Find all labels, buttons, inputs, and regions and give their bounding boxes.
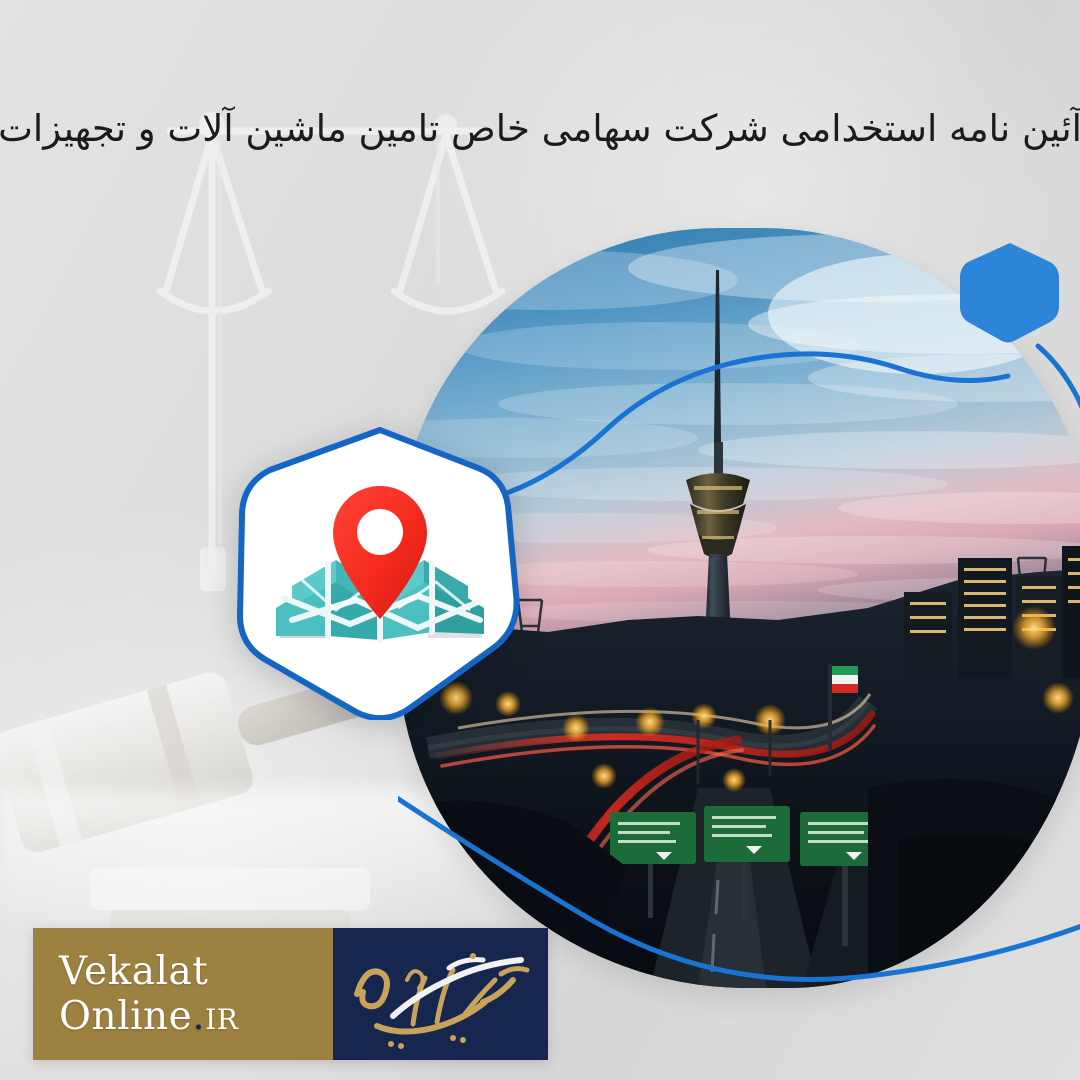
site-logo[interactable]: Vekalat Online.IR — [33, 928, 548, 1060]
map-location-badge[interactable] — [232, 424, 528, 720]
logo-calligraphy-mark — [333, 928, 548, 1060]
banner-canvas: آئین نامه استخدامی شرکت سهامی خاص تامین … — [0, 0, 1080, 1080]
logo-line-2: Online.IR — [59, 994, 333, 1039]
logo-dot: . — [192, 994, 205, 1039]
blue-hexagon-accent — [958, 240, 1062, 344]
page-title: آئین نامه استخدامی شرکت سهامی خاص تامین … — [0, 104, 1080, 154]
logo-line-1: Vekalat — [59, 949, 333, 994]
logo-wordmark: Vekalat Online.IR — [33, 928, 333, 1060]
logo-tld: IR — [205, 1003, 238, 1036]
logo-online-text: Online — [59, 994, 192, 1039]
